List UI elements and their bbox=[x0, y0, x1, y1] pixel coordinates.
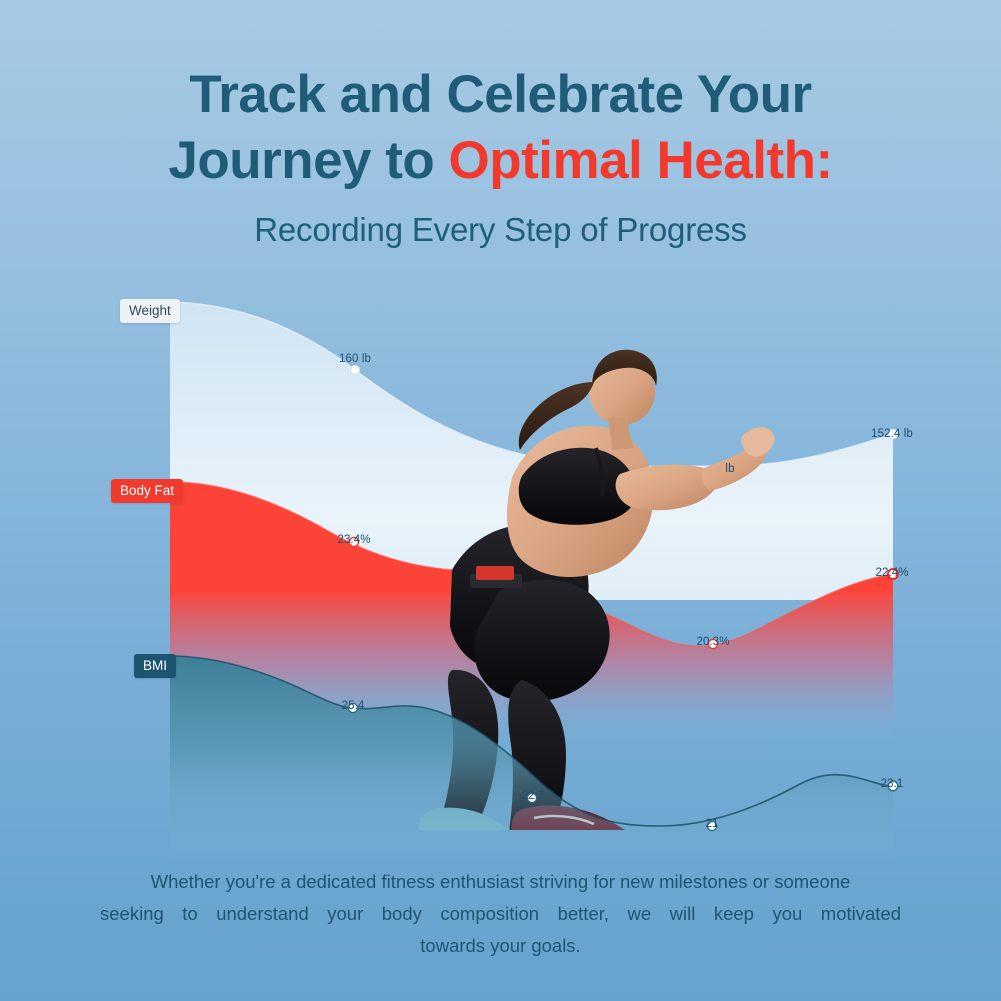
legend-badge-weight[interactable]: Weight bbox=[120, 299, 180, 323]
heading-block: Track and Celebrate Your Journey to Opti… bbox=[0, 62, 1001, 250]
footer-line-2: seeking to understand your body composit… bbox=[100, 898, 901, 930]
point-label-weight-160: 160 lb bbox=[339, 352, 371, 366]
point-label-bmi-23-1: 23.1 bbox=[881, 777, 904, 791]
point-label-bmi-25-4: 25.4 bbox=[342, 699, 365, 713]
legend-badge-body-fat[interactable]: Body Fat bbox=[111, 479, 183, 503]
legend-badge-bmi[interactable]: BMI bbox=[134, 654, 176, 678]
poster-root: Track and Celebrate Your Journey to Opti… bbox=[0, 0, 1001, 1001]
point-label-weight-152-4: 152.4 lb bbox=[871, 427, 913, 441]
footer-line-1: Whether you're a dedicated fitness enthu… bbox=[100, 866, 901, 898]
point-label-bmi-21: 21 bbox=[706, 817, 719, 831]
title-line-1: Track and Celebrate Your bbox=[0, 62, 1001, 128]
title-line-2-accent: Optimal Health: bbox=[449, 131, 833, 190]
page-subtitle: Recording Every Step of Progress bbox=[0, 210, 1001, 250]
point-label-bodyfat-22-4: 22.4% bbox=[875, 566, 908, 580]
body-composition-chart bbox=[0, 270, 1001, 860]
title-line-2: Journey to Optimal Health: bbox=[0, 128, 1001, 194]
point-label-weight-mid: lb bbox=[725, 462, 734, 476]
title-line-2-prefix: Journey to bbox=[168, 131, 448, 190]
title-line-1-text: Track and Celebrate Your bbox=[189, 65, 811, 124]
point-label-bmi-22-7: 22.7 bbox=[522, 789, 545, 803]
point-label-bodyfat-20-3: 20.3% bbox=[696, 635, 729, 649]
footer-paragraph: Whether you're a dedicated fitness enthu… bbox=[100, 866, 901, 962]
point-label-bodyfat-23-4: 23.4% bbox=[337, 533, 370, 547]
footer-line-3: towards your goals. bbox=[100, 930, 901, 962]
chart-svg bbox=[0, 270, 1001, 860]
